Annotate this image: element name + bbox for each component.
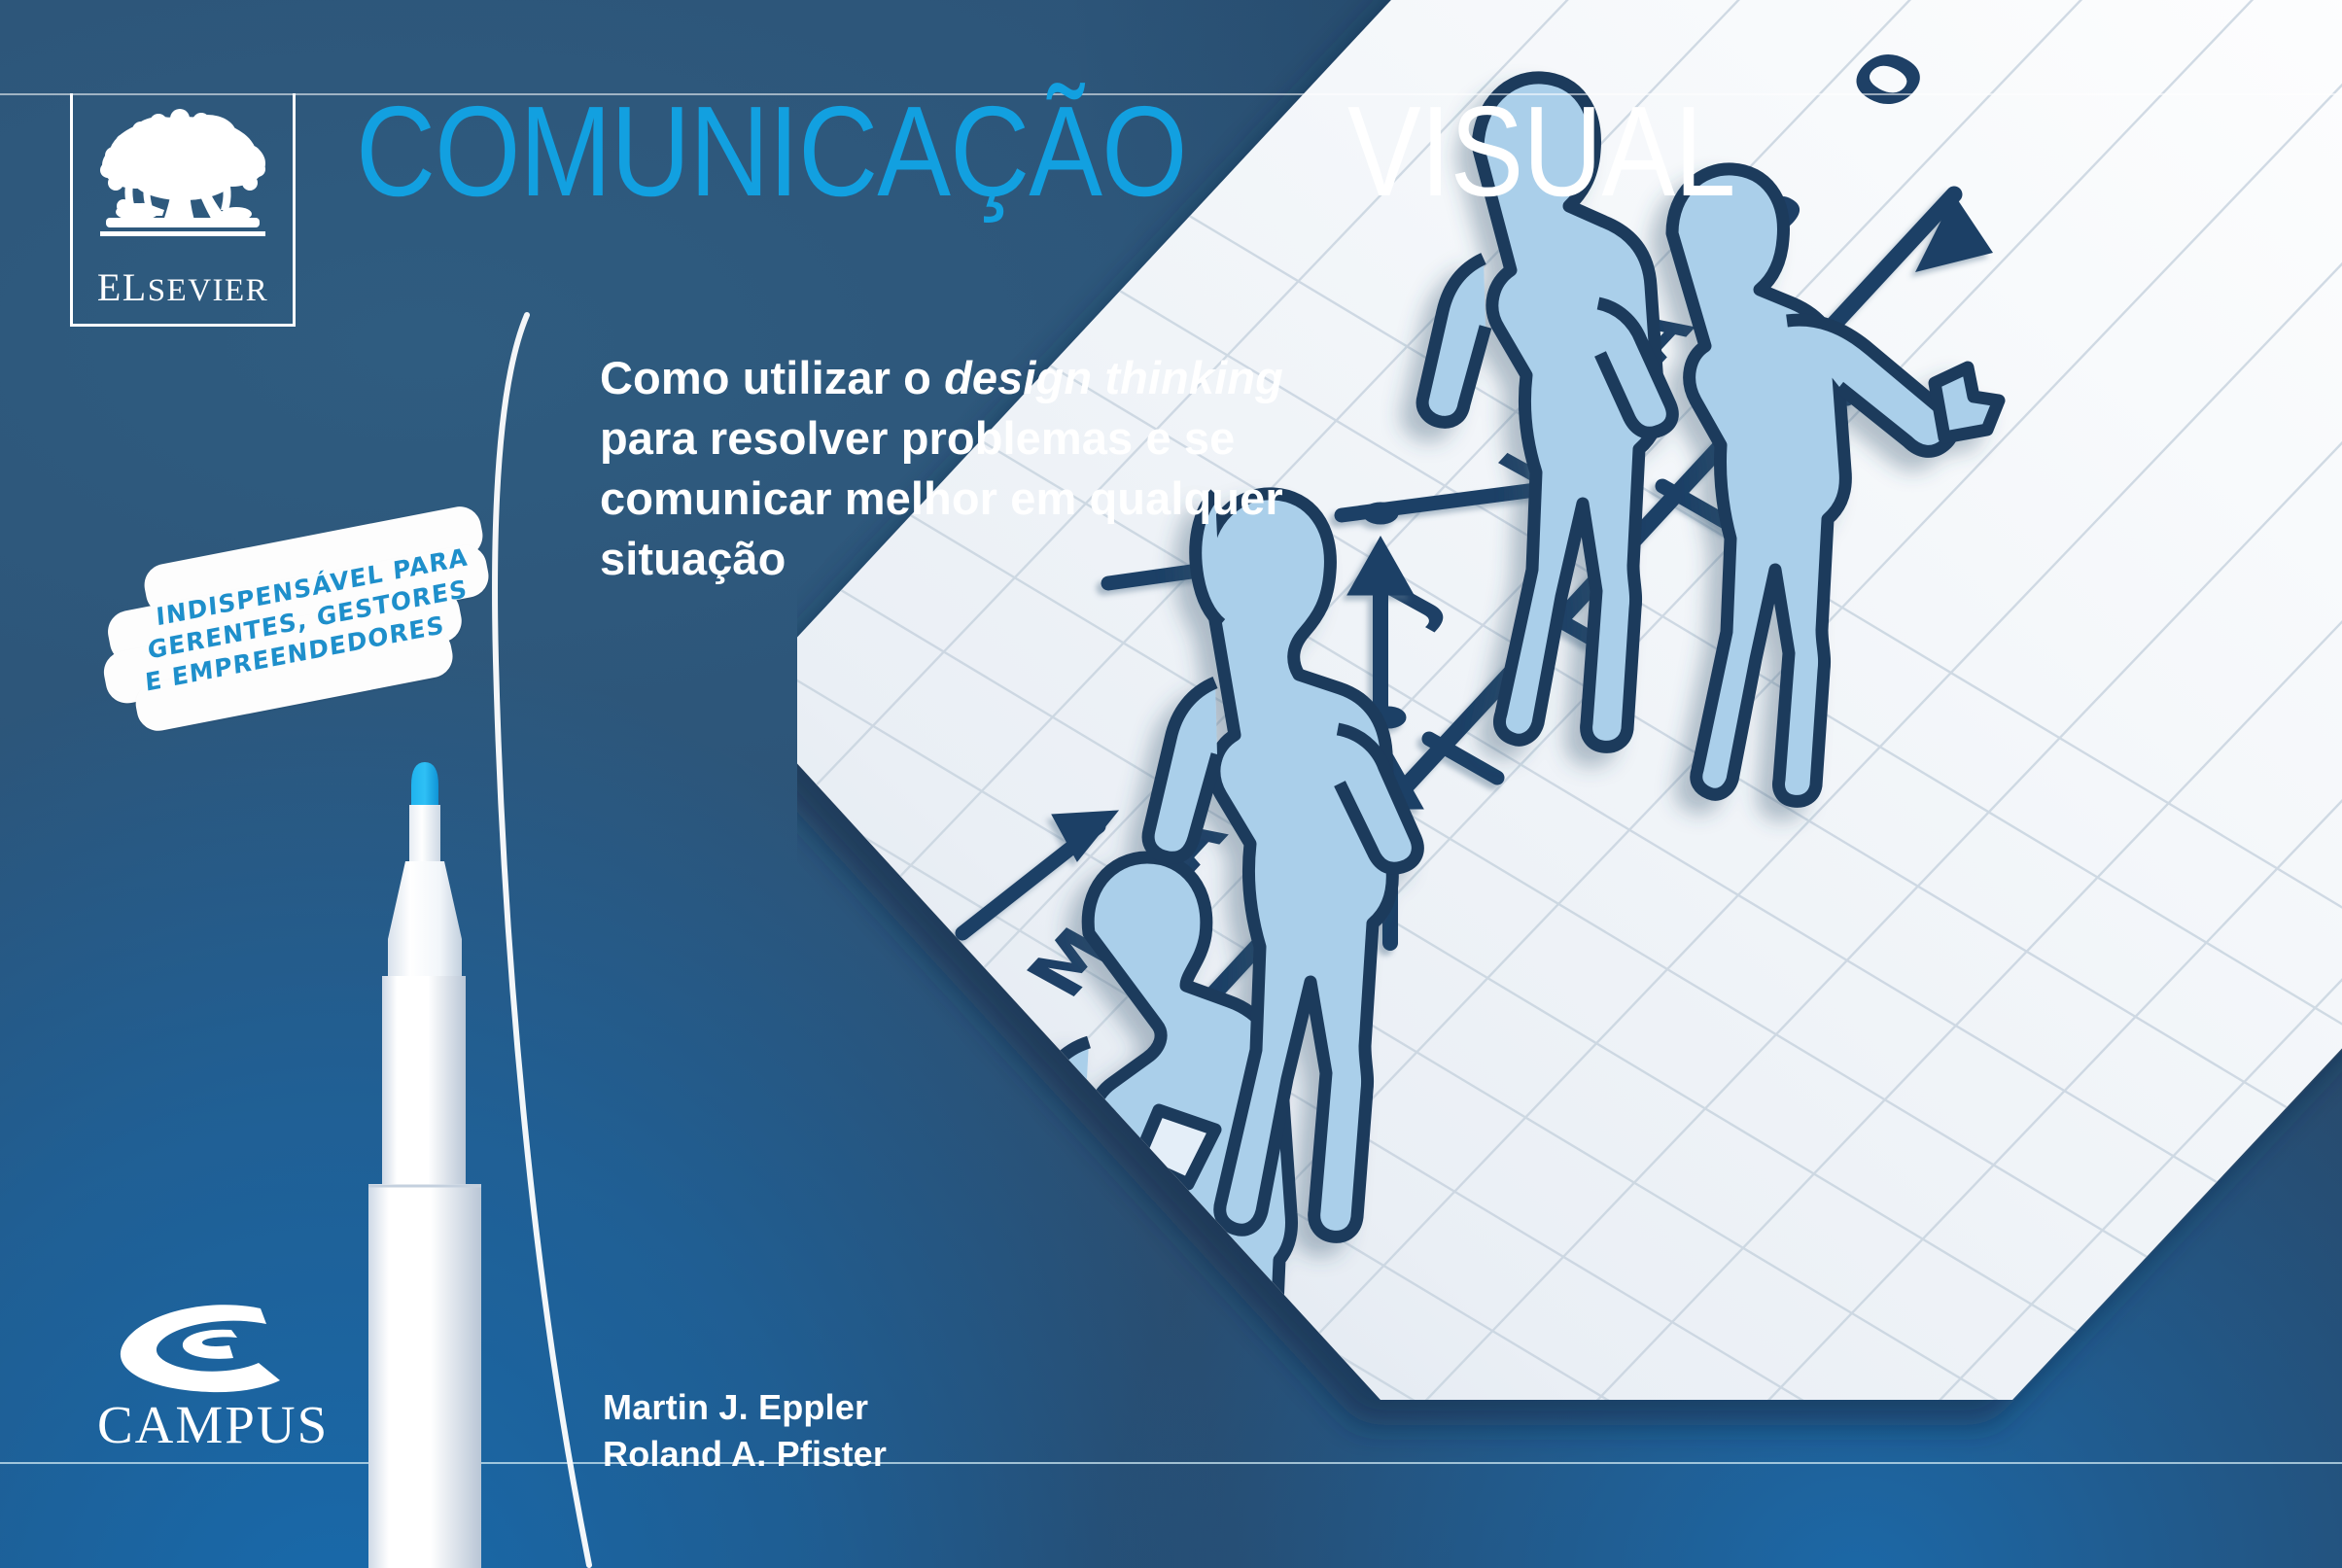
elsevier-wordmark: ELSEVIER xyxy=(97,268,268,307)
book-subtitle: Como utilizar o design thinking para res… xyxy=(600,348,1378,589)
pen-neck xyxy=(409,805,440,861)
svg-text:A: A xyxy=(1597,294,1711,376)
elsevier-wordmark-sevier: SEVIER xyxy=(148,273,269,308)
svg-text:J: J xyxy=(797,1201,870,1266)
subtitle-part-2: para resolver problemas e se comunicar m… xyxy=(600,412,1283,584)
svg-text:J: J xyxy=(1478,440,1575,505)
pen-upper-body xyxy=(382,976,466,1184)
svg-text:A: A xyxy=(1131,801,1244,884)
elsevier-logo: ELSEVIER xyxy=(70,93,296,327)
title-second: VISUAL xyxy=(1347,87,1735,216)
marker-pen xyxy=(345,749,501,1568)
author-names: Martin J. Eppler Roland A. Pfister xyxy=(603,1384,887,1477)
author-1: Martin J. Eppler xyxy=(603,1384,887,1431)
campus-wordmark: CAMPUS xyxy=(97,1398,340,1451)
pen-tip xyxy=(411,762,438,809)
graph-paper-sketch: J F M A M J J A S O xyxy=(797,0,2342,1536)
tree-icon xyxy=(90,109,275,264)
svg-text:F: F xyxy=(892,1059,1002,1136)
subtitle-part-1: Como utilizar o xyxy=(600,352,944,403)
background-glow-bottom-right xyxy=(1078,888,2342,1568)
book-cover: J F M A M J J A S O xyxy=(0,0,2342,1568)
pen-cone xyxy=(388,861,462,980)
book-title: COMUNICAÇÃO VISUAL xyxy=(356,93,1834,210)
title-main: COMUNICAÇÃO xyxy=(356,87,1187,216)
figure-walking-center xyxy=(1148,494,1417,1237)
campus-logo: CAMPUS xyxy=(97,1303,340,1468)
subtitle-emphasis: design thinking xyxy=(944,352,1283,403)
figure-group xyxy=(1010,78,1999,1536)
figure-front-left xyxy=(1010,857,1291,1536)
svg-text:O: O xyxy=(1831,37,1948,123)
campus-swirl-icon xyxy=(113,1303,317,1396)
highlight-sticker: INDISPENSÁVEL PARA GERENTES, GESTORES E … xyxy=(85,496,519,746)
pen-barrel xyxy=(368,1184,481,1568)
sticker-text: INDISPENSÁVEL PARA GERENTES, GESTORES E … xyxy=(85,496,519,746)
sketch-arrows xyxy=(962,455,1592,1382)
author-2: Roland A. Pfister xyxy=(603,1431,887,1478)
svg-text:M: M xyxy=(1009,916,1134,1010)
paper-grid xyxy=(797,0,2342,1536)
figure-right-gesturing xyxy=(1672,169,1999,801)
elsevier-wordmark-el: EL xyxy=(97,265,148,309)
svg-text:M: M xyxy=(1247,663,1372,757)
